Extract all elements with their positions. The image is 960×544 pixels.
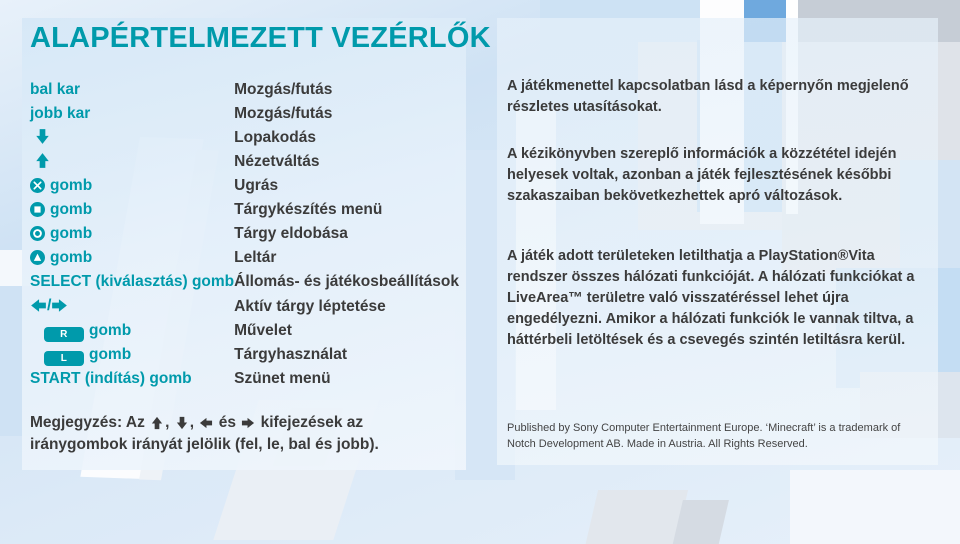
arrow-right-icon — [241, 416, 255, 430]
control-row: RgombMűvelet — [30, 319, 459, 343]
control-key: Rgomb — [30, 319, 234, 343]
info-paragraph-1: A játékmenettel kapcsolatban lásd a képe… — [507, 76, 919, 118]
control-row: bal karMozgás/futás — [30, 78, 459, 102]
control-key-label: gomb — [50, 201, 92, 218]
control-key-label: gomb — [50, 249, 92, 266]
control-value: Nézetváltás — [234, 150, 459, 174]
bg-shape-gray-bottom — [582, 490, 688, 544]
control-value: Tárgykészítés menü — [234, 198, 459, 222]
control-value: Mozgás/futás — [234, 78, 459, 102]
arrow-left-icon — [199, 416, 213, 430]
control-value: Szünet menü — [234, 367, 459, 391]
control-row: Lopakodás — [30, 126, 459, 150]
square-button-icon — [30, 202, 45, 217]
control-key — [30, 126, 234, 150]
control-key: START (indítás) gomb — [30, 367, 234, 391]
control-key: jobb kar — [30, 102, 234, 126]
control-value: Leltár — [234, 246, 459, 270]
arrow-left-icon — [30, 297, 47, 314]
control-key: / — [30, 294, 234, 319]
control-row: gombTárgykészítés menü — [30, 198, 459, 222]
cross-button-icon — [30, 178, 45, 193]
control-key-label: SELECT (kiválasztás) gomb — [30, 273, 234, 290]
control-key: gomb — [30, 174, 234, 198]
control-key: gomb — [30, 222, 234, 246]
control-value: Tárgy eldobása — [234, 222, 459, 246]
info-paragraph-3: A játék adott területeken letilthatja a … — [507, 246, 919, 351]
triangle-button-icon — [30, 250, 45, 265]
arrow-up-icon — [150, 416, 164, 430]
control-value: Lopakodás — [234, 126, 459, 150]
controls-table: bal karMozgás/futásjobb karMozgás/futásL… — [30, 78, 459, 391]
control-value: Művelet — [234, 319, 459, 343]
control-row: SELECT (kiválasztás) gombÁllomás- és ját… — [30, 270, 459, 294]
control-key-label: jobb kar — [30, 105, 90, 122]
control-value: Ugrás — [234, 174, 459, 198]
circle-button-icon — [30, 226, 45, 241]
arrow-down-icon — [175, 416, 189, 430]
control-key: gomb — [30, 198, 234, 222]
control-row: /Aktív tárgy léptetése — [30, 294, 459, 319]
control-key-label: gomb — [50, 225, 92, 242]
shoulder-button-r-icon: R — [44, 327, 84, 342]
control-key-label: gomb — [50, 177, 92, 194]
control-value: Mozgás/futás — [234, 102, 459, 126]
note-text: Megjegyzés: Az , , és kifejezések az irá… — [30, 412, 450, 456]
control-row: LgombTárgyhasználat — [30, 343, 459, 367]
arrow-up-icon — [34, 152, 51, 169]
control-key: SELECT (kiválasztás) gomb — [30, 270, 234, 294]
control-key-label: bal kar — [30, 81, 80, 98]
shoulder-button-l-icon: L — [44, 351, 84, 366]
control-key: Lgomb — [30, 343, 234, 367]
control-key: gomb — [30, 246, 234, 270]
control-row: Nézetváltás — [30, 150, 459, 174]
legal-text: Published by Sony Computer Entertainment… — [507, 420, 919, 452]
control-key: bal kar — [30, 78, 234, 102]
info-paragraph-2: A kézikönyvben szereplő információk a kö… — [507, 144, 919, 207]
control-key-label: START (indítás) gomb — [30, 370, 192, 387]
control-key — [30, 150, 234, 174]
control-row: gombTárgy eldobása — [30, 222, 459, 246]
control-key-label: gomb — [89, 322, 131, 339]
control-key-label: gomb — [89, 346, 131, 363]
control-value: Állomás- és játékosbeállítások — [234, 270, 459, 294]
page-title: ALAPÉRTELMEZETT VEZÉRLŐK — [30, 22, 491, 55]
control-row: jobb karMozgás/futás — [30, 102, 459, 126]
arrow-down-icon — [34, 128, 51, 145]
control-value: Tárgyhasználat — [234, 343, 459, 367]
bg-shape-white-bottom — [790, 470, 960, 544]
control-row: gombUgrás — [30, 174, 459, 198]
arrow-right-icon — [51, 297, 68, 314]
control-row: gombLeltár — [30, 246, 459, 270]
control-value: Aktív tárgy léptetése — [234, 294, 459, 319]
control-row: START (indítás) gombSzünet menü — [30, 367, 459, 391]
